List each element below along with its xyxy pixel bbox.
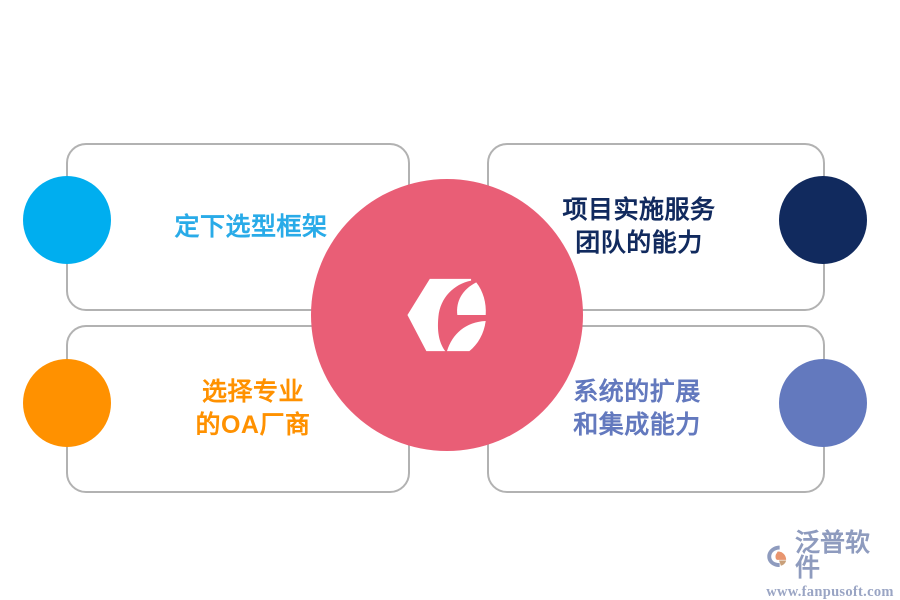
fanpu-arc-logo-icon (766, 543, 792, 569)
diagram-canvas: 定下选型框架 项目实施服务 团队的能力 选择专业 的OA厂商 系统的扩展 和集成… (0, 0, 900, 600)
watermark-brand-text: 泛普软件 (795, 531, 894, 581)
watermark: 泛普软件 www.fanpusoft.com (766, 531, 894, 593)
watermark-url-text: www.fanpusoft.com (766, 584, 894, 600)
watermark-brand-row: 泛普软件 (766, 531, 894, 581)
hexagon-leaf-logo-icon (404, 272, 490, 358)
